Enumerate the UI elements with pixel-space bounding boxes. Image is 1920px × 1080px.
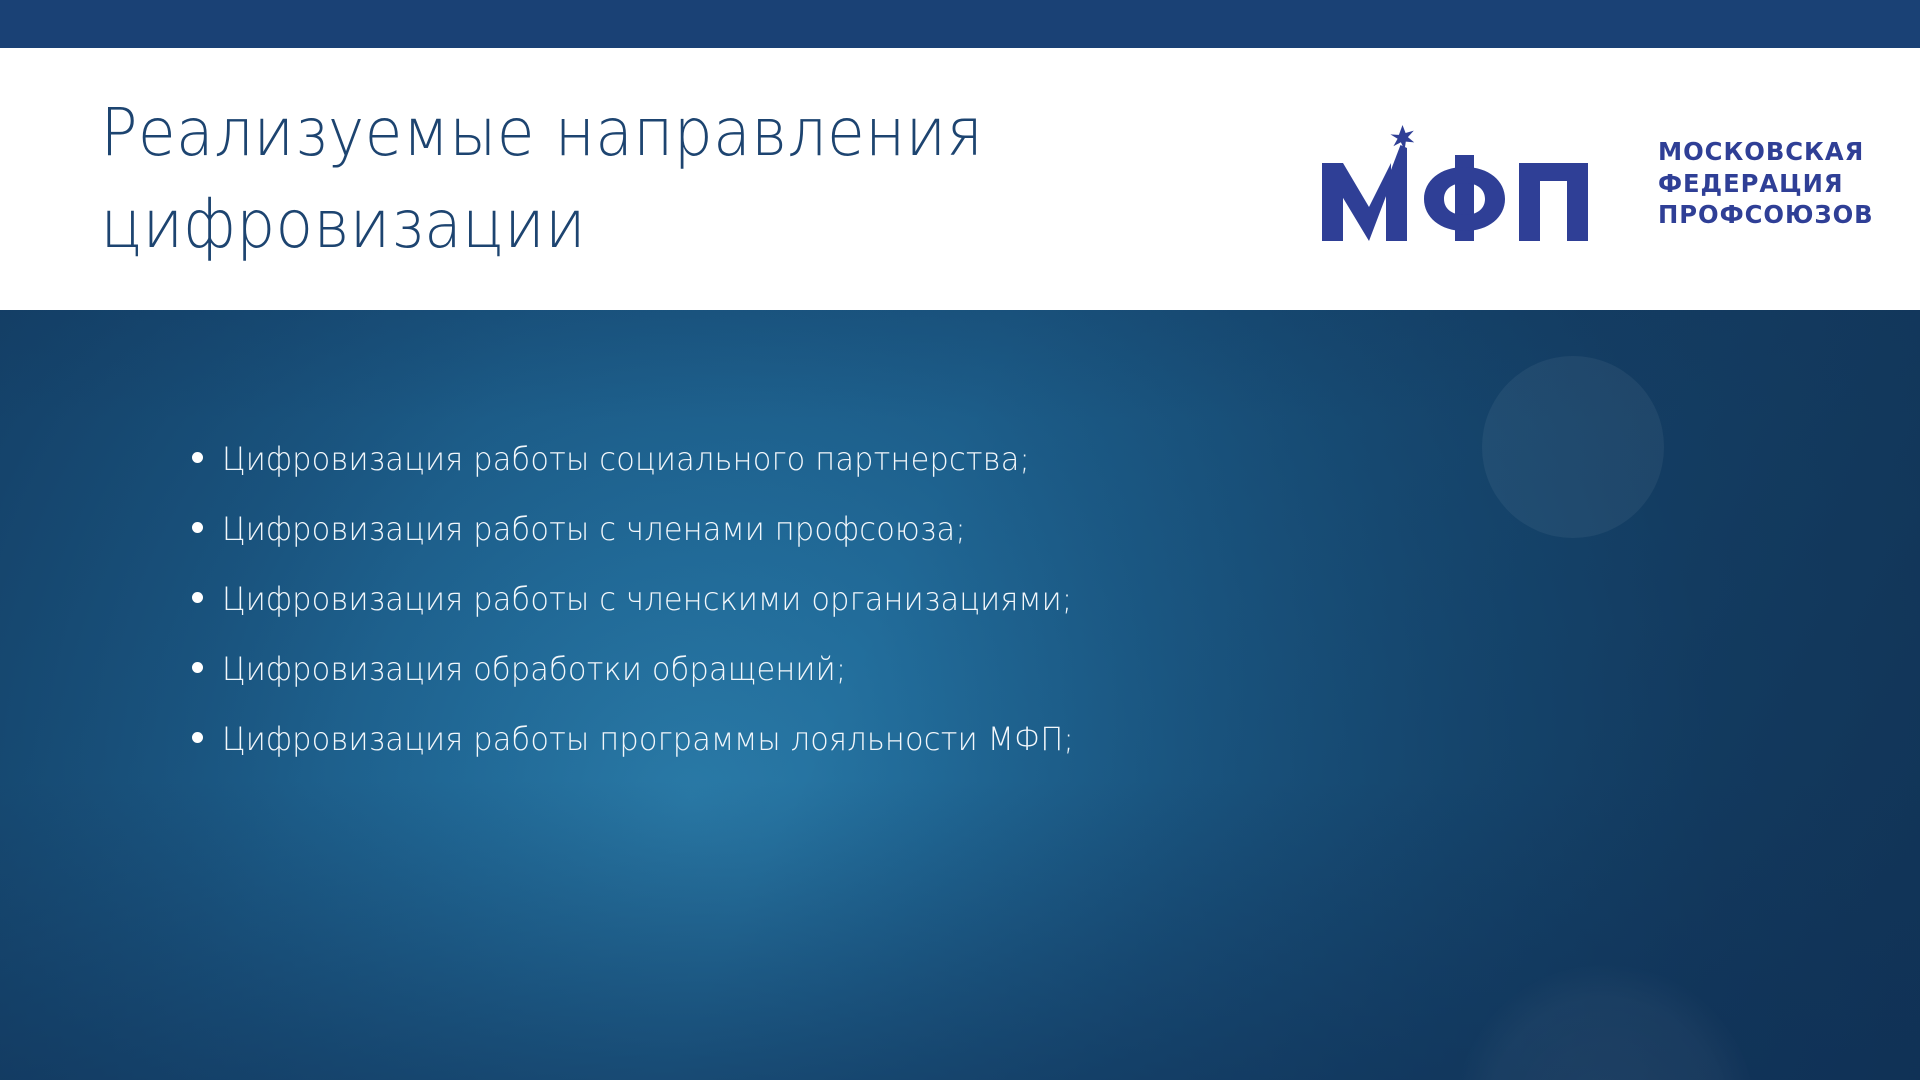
list-item: Цифровизация работы с членскими организа… bbox=[190, 580, 1430, 650]
list-item-label: Цифровизация работы социального партнерс… bbox=[222, 440, 1030, 478]
list-item: Цифровизация работы социального партнерс… bbox=[190, 440, 1430, 510]
list-item-label: Цифровизация обработки обращений; bbox=[222, 650, 846, 688]
mfp-logo-wordmark: МОСКОВСКАЯ ФЕДЕРАЦИЯ ПРОФСОЮЗОВ bbox=[1658, 133, 1880, 231]
bullet-marker-icon bbox=[190, 592, 222, 603]
bullet-list: Цифровизация работы социального партнерс… bbox=[190, 440, 1430, 790]
presentation-slide: Реализуемые направления цифровизации bbox=[0, 0, 1920, 1080]
header-content: Реализуемые направления цифровизации bbox=[0, 48, 1920, 310]
list-item: Цифровизация обработки обращений; bbox=[190, 650, 1430, 720]
list-item-label: Цифровизация работы программы лояльности… bbox=[222, 720, 1074, 758]
bullet-marker-icon bbox=[190, 522, 222, 533]
list-item: Цифровизация работы программы лояльности… bbox=[190, 720, 1430, 790]
bullet-marker-icon bbox=[190, 662, 222, 673]
header-top-accent-band bbox=[0, 0, 1920, 48]
mfp-logo: МОСКОВСКАЯ ФЕДЕРАЦИЯ ПРОФСОЮЗОВ bbox=[1316, 123, 1920, 241]
list-item-label: Цифровизация работы с членами профсоюза; bbox=[222, 510, 966, 548]
bullet-marker-icon bbox=[190, 452, 222, 463]
mfp-logo-mark bbox=[1316, 123, 1636, 241]
mfp-logo-name-line-2: ФЕДЕРАЦИЯ bbox=[1658, 169, 1874, 200]
mfp-logo-name-line-1: МОСКОВСКАЯ bbox=[1658, 137, 1874, 168]
list-item: Цифровизация работы с членами профсоюза; bbox=[190, 510, 1430, 580]
slide-background-bottom-shade bbox=[0, 780, 1920, 1080]
list-item-label: Цифровизация работы с членскими организа… bbox=[222, 580, 1072, 618]
page-title: Реализуемые направления цифровизации bbox=[0, 87, 983, 272]
bullet-marker-icon bbox=[190, 732, 222, 743]
mfp-logo-name-line-3: ПРОФСОЮЗОВ bbox=[1658, 200, 1874, 231]
